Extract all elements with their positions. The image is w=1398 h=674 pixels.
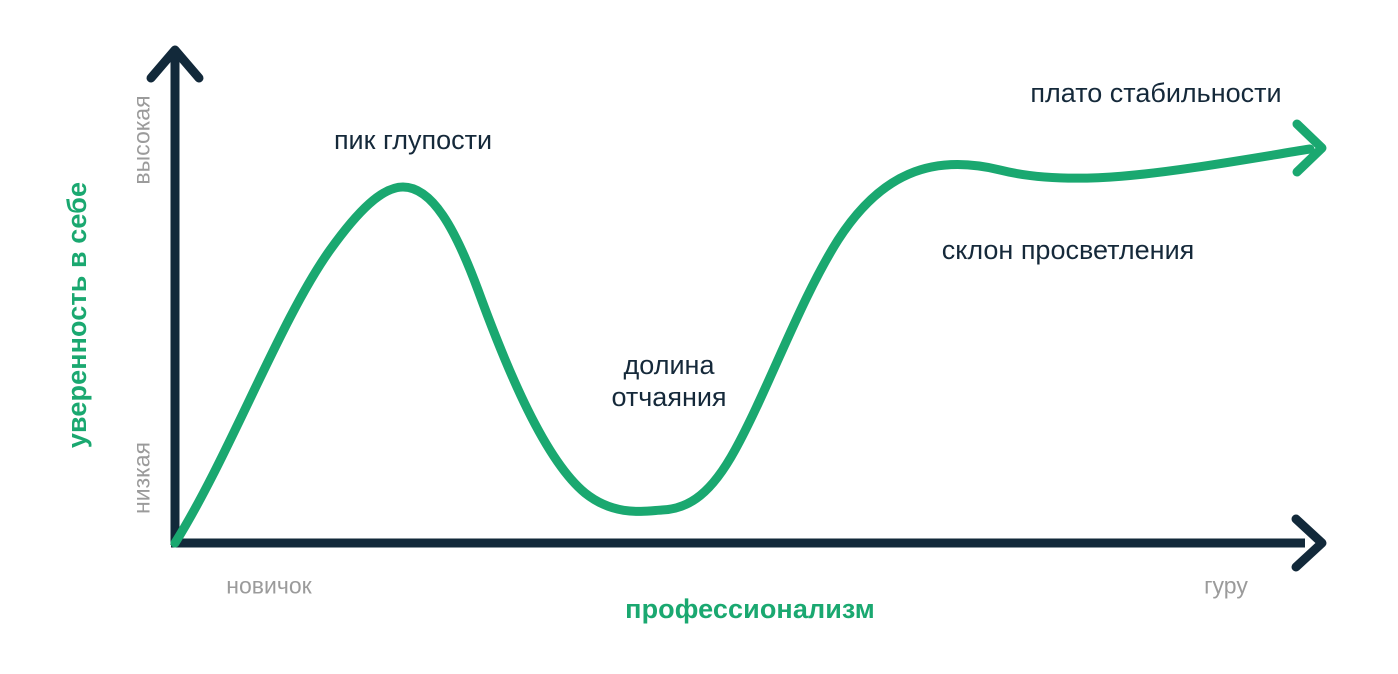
annotation-slope-of-enlightenment: склон просветления	[942, 235, 1195, 267]
dunning-kruger-curve	[175, 149, 1310, 543]
y-tick-label-low: низкая	[128, 442, 155, 514]
dunning-kruger-chart: уверенность в себе профессионализм высок…	[0, 0, 1398, 674]
annotation-plateau-of-stability: плато стабильности	[1030, 78, 1281, 110]
x-tick-label-novice: новичок	[226, 572, 311, 599]
annotation-valley-line-1: долина	[624, 350, 715, 380]
y-axis-title: уверенность в себе	[62, 182, 94, 448]
annotation-valley-of-despair: долина отчаяния	[611, 350, 726, 414]
annotation-valley-line-2: отчаяния	[611, 382, 726, 414]
x-axis-title: профессионализм	[625, 594, 875, 626]
y-tick-label-high: высокая	[128, 95, 155, 184]
x-tick-label-guru: гуру	[1204, 572, 1248, 599]
annotation-peak-of-stupidity: пик глупости	[334, 125, 492, 157]
